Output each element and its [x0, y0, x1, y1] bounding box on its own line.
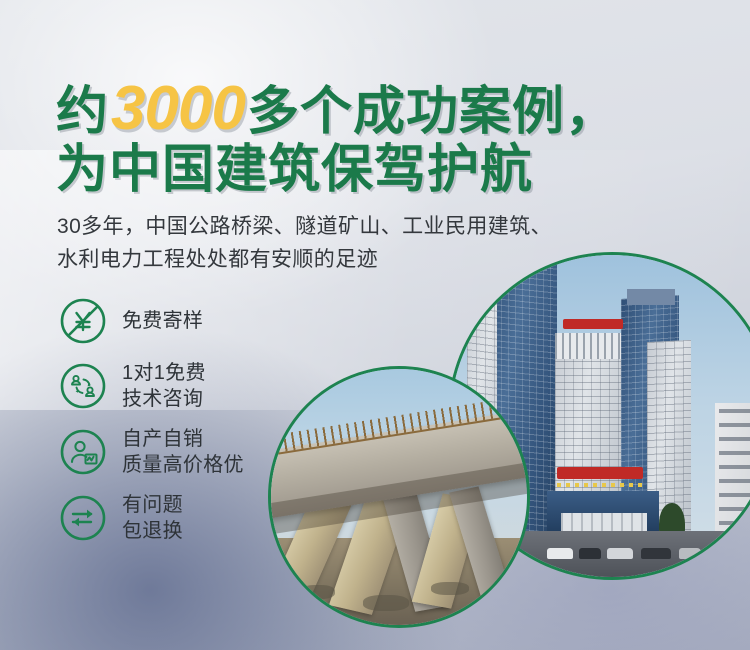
- one-on-one-consult-icon: [58, 361, 108, 411]
- subtitle-line-1: 30多年，中国公路桥梁、隧道矿山、工业民用建筑、: [57, 210, 552, 243]
- feature-text-consult: 1对1免费 技术咨询: [122, 360, 206, 412]
- car: [547, 548, 573, 559]
- car: [641, 548, 671, 559]
- feature-line-1: 有问题: [122, 492, 183, 518]
- feature-item-return-exchange[interactable]: 有问题 包退换: [58, 492, 244, 544]
- feature-text-free-sample: 免费寄样: [122, 308, 203, 334]
- feature-list: 免费寄样: [58, 296, 244, 558]
- rubble: [431, 582, 469, 595]
- feature-line-1: 自产自销: [122, 426, 244, 452]
- feature-line-2: 质量高价格优: [122, 452, 244, 478]
- feature-text-self-produce: 自产自销 质量高价格优: [122, 426, 244, 478]
- feature-item-free-sample[interactable]: 免费寄样: [58, 296, 244, 346]
- free-sample-icon: [58, 296, 108, 346]
- promo-banner: 约3000多个成功案例， 为中国建筑保驾护航 30多年，中国公路桥梁、隧道矿山、…: [0, 0, 750, 650]
- return-exchange-icon: [58, 493, 108, 543]
- feature-line-2: 技术咨询: [122, 386, 206, 412]
- rubble: [301, 585, 335, 599]
- feature-line-2: 包退换: [122, 518, 183, 544]
- headline-number: 3000: [109, 74, 247, 143]
- bridge-photo: [268, 366, 530, 628]
- car: [679, 548, 701, 559]
- rooftop-sign-upper: [563, 319, 623, 329]
- headline-line2-text: 为中国建筑保驾护航: [56, 141, 533, 199]
- headline-line-2: 为中国建筑保驾护航: [56, 144, 618, 196]
- feature-text-return-exchange: 有问题 包退换: [122, 492, 183, 544]
- rubble: [363, 595, 409, 611]
- headline-prefix: 约: [56, 83, 109, 141]
- balcony-band: [555, 333, 621, 359]
- subtitle: 30多年，中国公路桥梁、隧道矿山、工业民用建筑、 水利电力工程处处都有安顺的足迹: [57, 210, 552, 276]
- feature-item-consult[interactable]: 1对1免费 技术咨询: [58, 360, 244, 412]
- car: [579, 548, 601, 559]
- headline-suffix: 多个成功案例，: [247, 83, 618, 141]
- self-produce-sell-icon: [58, 427, 108, 477]
- feature-item-self-produce[interactable]: 自产自销 质量高价格优: [58, 426, 244, 478]
- podium-sign: [557, 467, 643, 479]
- tower-right-crown: [627, 289, 675, 305]
- podium-sign-dots: [557, 483, 643, 487]
- headline: 约3000多个成功案例， 为中国建筑保驾护航: [56, 78, 618, 196]
- feature-line-1: 1对1免费: [122, 360, 206, 386]
- headline-line-1: 约3000多个成功案例，: [56, 78, 618, 140]
- feature-line-1: 免费寄样: [122, 308, 203, 334]
- car: [607, 548, 633, 559]
- side-building: [715, 403, 750, 545]
- subtitle-line-2: 水利电力工程处处都有安顺的足迹: [57, 243, 552, 276]
- bridge-scene: [271, 369, 527, 625]
